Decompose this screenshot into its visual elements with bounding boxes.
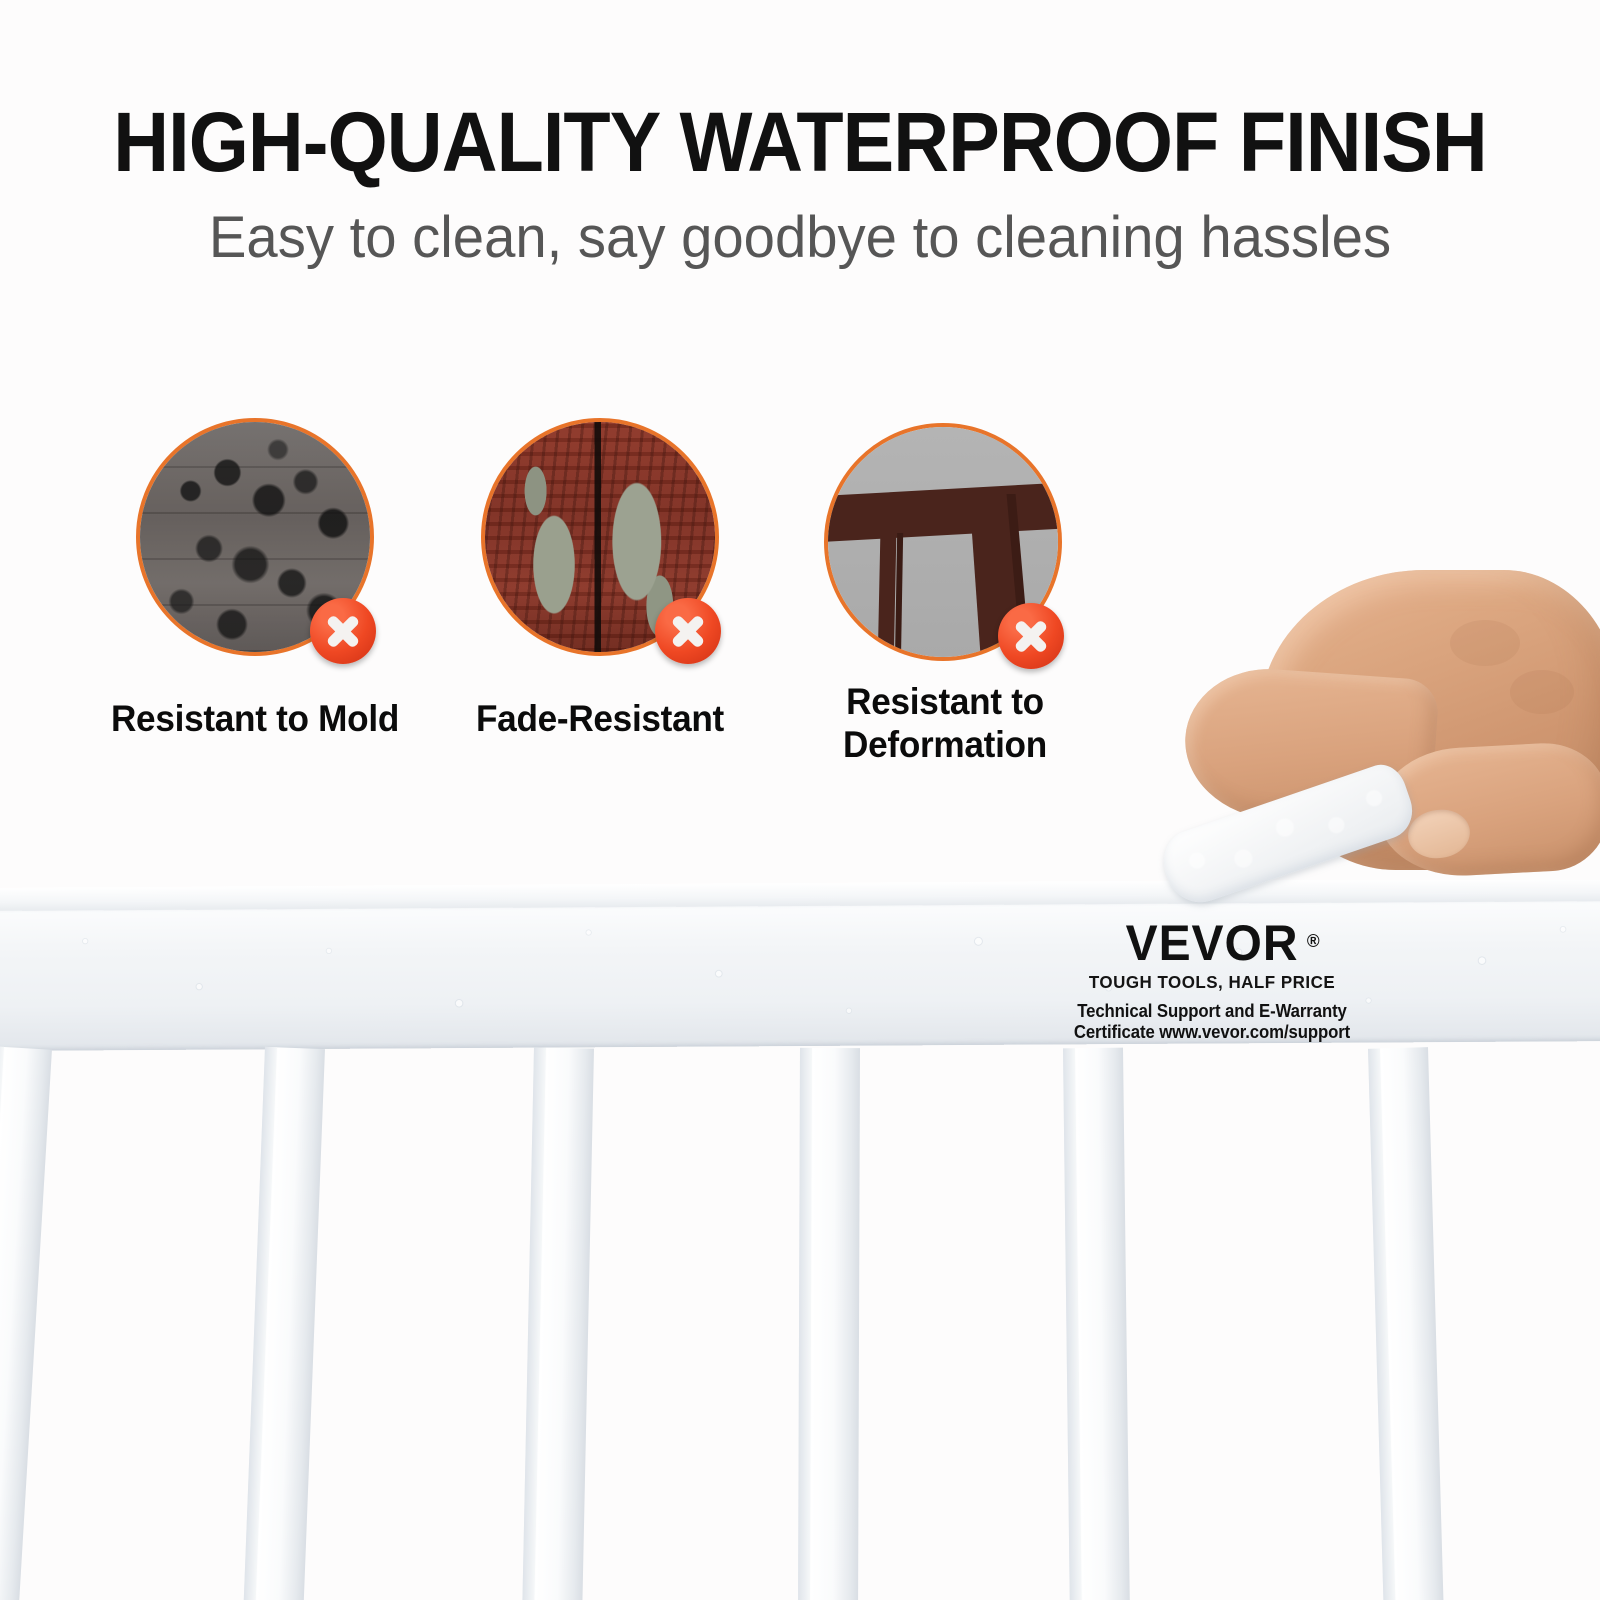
baluster-edge [522,1047,546,1600]
badge-label-deformation-line1: Resistant to [769,680,1121,723]
registered-trademark-icon: ® [1307,916,1321,966]
badge-label-fade: Fade-Resistant [424,697,776,740]
x-mark-icon [310,598,376,664]
railing-baluster [244,1047,325,1600]
warped-top-rail-shape [824,482,1062,543]
feature-badge-fade [481,418,719,656]
baluster-edge [244,1047,277,1600]
x-mark-icon [998,603,1064,669]
hand-wiping-railing [1150,560,1600,920]
x-mark-icon [655,598,721,664]
baluster-edge [1368,1049,1396,1600]
badge-label-deformation-line2: Deformation [769,723,1121,766]
baluster-edge [1063,1048,1082,1600]
support-info: Technical Support and E-Warranty Certifi… [1073,1001,1352,1043]
warped-middle-edge-shape [895,533,903,661]
railing-baluster [0,1046,52,1600]
railing-baluster [1368,1047,1444,1600]
brand-tagline: TOUGH TOOLS, HALF PRICE [1067,972,1358,992]
railing-baluster [522,1047,594,1600]
knuckle [1450,620,1520,666]
feature-badge-deformation [824,423,1062,661]
knuckle [1510,670,1574,714]
warped-middle-post-shape [877,533,896,661]
brand-lockup: VEVOR® TOUGH TOOLS, HALF PRICE Technical… [1062,918,1362,1043]
page-subtitle: Easy to clean, say goodbye to cleaning h… [24,205,1576,271]
badge-label-deformation: Resistant to Deformation [769,680,1121,766]
railing-baluster [1063,1048,1130,1600]
vevor-logo: VEVOR® [1126,918,1299,968]
product-feature-banner: HIGH-QUALITY WATERPROOF FINISH Easy to c… [0,0,1600,1600]
feature-badge-mold [136,418,374,656]
railing-baluster [798,1048,860,1600]
baluster-edge [0,1046,4,1600]
baluster-edge [798,1048,812,1600]
page-title: HIGH-QUALITY WATERPROOF FINISH [64,96,1536,188]
support-line-2: Certificate www.vevor.com/support [1073,1022,1352,1043]
vevor-wordmark: VEVOR [1126,915,1299,971]
badge-label-mold: Resistant to Mold [56,697,455,740]
support-line-1: Technical Support and E-Warranty [1073,1001,1352,1022]
